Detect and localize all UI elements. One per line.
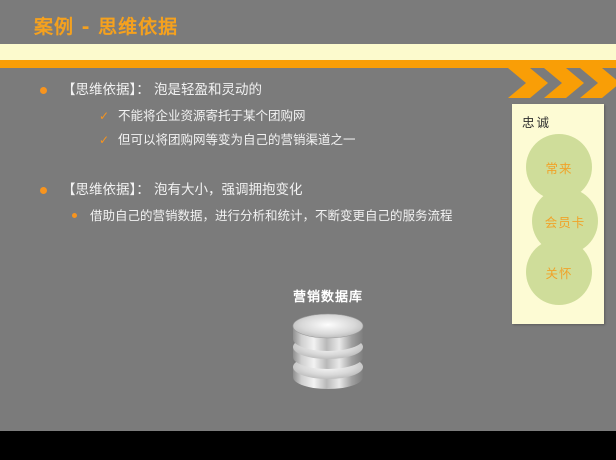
bullet-level1-text: 【思维依据】： 泡是轻盈和灵动的 bbox=[62, 82, 262, 98]
check-mark-icon: ✓ bbox=[99, 107, 109, 126]
bullet-level2-text: 不能将企业资源寄托于某个团购网 bbox=[118, 108, 306, 123]
bullet-level2-text: 借助自己的营销数据，进行分析和统计，不断变更自己的服务流程 bbox=[90, 208, 453, 223]
database-graphic: 营销数据库 bbox=[272, 286, 384, 391]
cream-divider-stripe bbox=[0, 44, 616, 60]
bullet-level2-text: 但可以将团购网等变为自己的营销渠道之一 bbox=[118, 132, 356, 147]
bottom-black-bar bbox=[0, 431, 616, 460]
slide-canvas: 案例 - 思维依据 【思维依据】： 泡是轻盈和灵动的 ✓ 不能将企业资源寄托于某… bbox=[0, 0, 616, 460]
loyalty-panel-title: 忠诚 bbox=[522, 112, 551, 131]
bullet-dot-icon bbox=[72, 213, 77, 218]
chevron-arrow-group bbox=[508, 68, 616, 98]
chevron-right-icon bbox=[508, 68, 616, 98]
loyalty-panel: 忠诚 常来 会员卡 关怀 bbox=[512, 104, 604, 324]
bullet-dot-icon bbox=[40, 87, 47, 94]
bullet-level1: 【思维依据】： 泡有大小，强调拥抱变化 bbox=[0, 180, 500, 200]
bullet-level2: 借助自己的营销数据，进行分析和统计，不断变更自己的服务流程 bbox=[0, 206, 500, 225]
bullet-dot-icon bbox=[40, 187, 47, 194]
page-title: 案例 - 思维依据 bbox=[34, 12, 178, 39]
loyalty-circle: 关怀 bbox=[526, 239, 592, 305]
block-spacer bbox=[0, 154, 500, 180]
bullet-content: 【思维依据】： 泡是轻盈和灵动的 ✓ 不能将企业资源寄托于某个团购网 ✓ 但可以… bbox=[0, 80, 500, 225]
bullet-level1-text: 【思维依据】： 泡有大小，强调拥抱变化 bbox=[62, 182, 303, 198]
database-label: 营销数据库 bbox=[272, 286, 384, 305]
bullet-level1: 【思维依据】： 泡是轻盈和灵动的 bbox=[0, 80, 500, 100]
bullet-level2: ✓ 不能将企业资源寄托于某个团购网 bbox=[0, 106, 500, 125]
database-cylinder-icon bbox=[287, 309, 369, 391]
orange-divider-stripe bbox=[0, 60, 616, 68]
bullet-level2: ✓ 但可以将团购网等变为自己的营销渠道之一 bbox=[0, 130, 500, 149]
check-mark-icon: ✓ bbox=[99, 131, 109, 150]
